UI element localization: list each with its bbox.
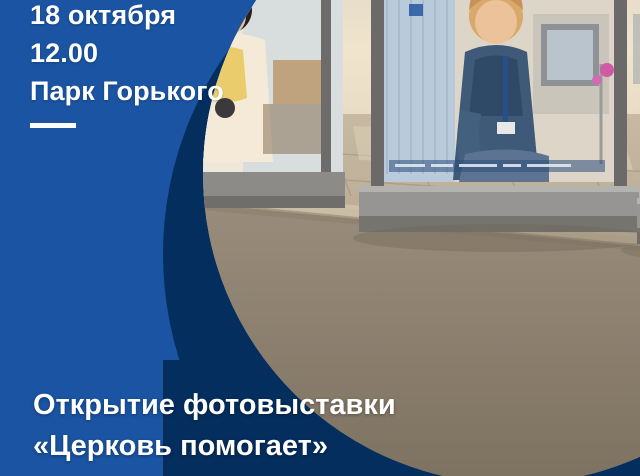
bottom-title-line2: «Церковь помогает» — [33, 426, 396, 467]
bottom-title-block: Открытие фотовыставки «Церковь помогает» — [33, 385, 396, 467]
event-date: 18 октября — [30, 0, 320, 34]
event-time: 12.00 — [30, 34, 320, 72]
headline-divider — [30, 123, 76, 128]
headline-block: 18 октября 12.00 Парк Горького — [30, 0, 320, 128]
event-place: Парк Горького — [30, 72, 320, 110]
poster-canvas: 18 октября 12.00 Парк Горького Открытие … — [0, 0, 640, 476]
bottom-title-line1: Открытие фотовыставки — [33, 385, 396, 426]
